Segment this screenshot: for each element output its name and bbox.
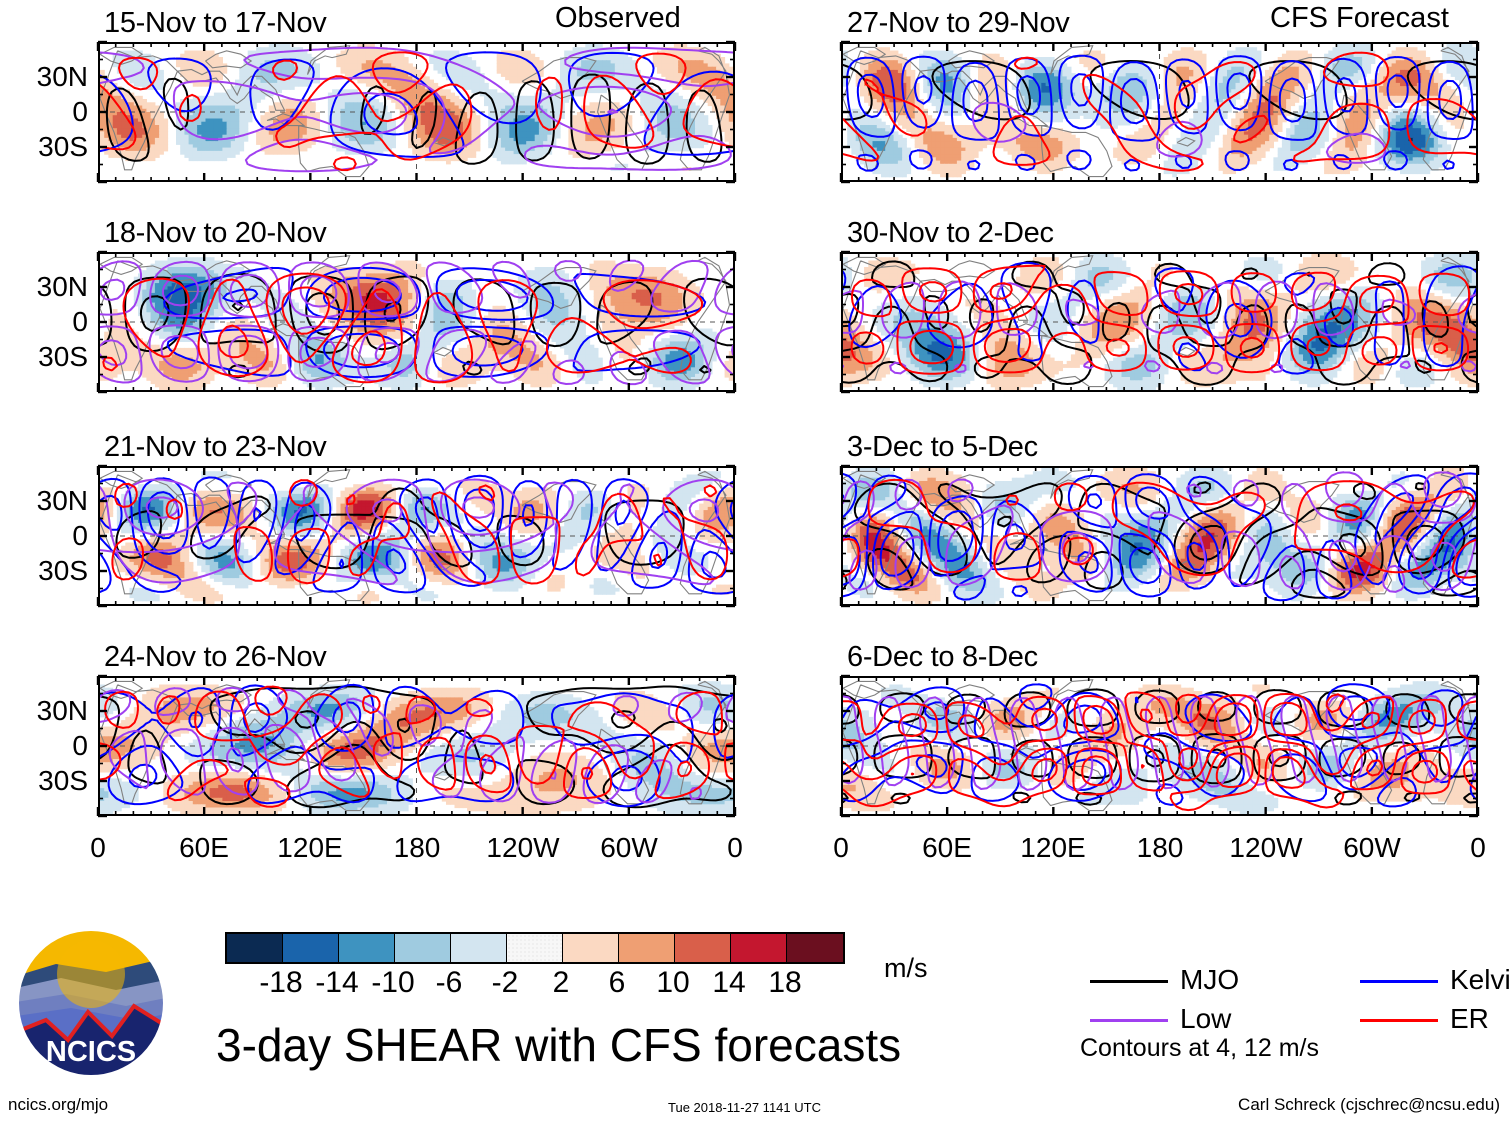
x-tick-label: 120E [1003,834,1103,862]
y-tick-label: 30S [0,767,88,795]
colorbar-units-label: m/s [884,955,928,982]
x-tick-label: 60W [579,834,679,862]
map-panel-obs-1[interactable] [98,42,735,182]
legend-swatch-kelvin-x2 [1360,980,1438,983]
colorbar-cell-9 [731,934,787,962]
y-tick-label: 0 [0,308,88,336]
x-tick-label: 0 [685,834,785,862]
panel-title-cfs-3: 3-Dec to 5-Dec [847,433,1038,462]
map-field-obs-4 [100,678,733,814]
y-tick-label: 0 [0,732,88,760]
x-tick-label: 120W [473,834,573,862]
y-tick-label: 0 [0,98,88,126]
figure-title: 3-day SHEAR with CFS forecasts [216,1022,901,1068]
ncics-logo-graphic: NCICS [16,928,166,1078]
map-panel-cfs-1[interactable] [841,42,1478,182]
colorbar-cell-7 [619,934,675,962]
panel-title-obs-1: 15-Nov to 17-Nov [104,9,326,38]
map-field-obs-3 [100,468,733,604]
panel-title-obs-3: 21-Nov to 23-Nov [104,433,326,462]
x-tick-label: 0 [48,834,148,862]
x-tick-label: 60E [897,834,997,862]
y-tick-label: 30N [0,697,88,725]
map-panel-cfs-2[interactable] [841,252,1478,392]
map-field-obs-1 [100,44,733,180]
x-tick-label: 0 [1428,834,1510,862]
y-tick-label: 30S [0,343,88,371]
x-tick-label: 60W [1322,834,1422,862]
y-tick-label: 30S [0,133,88,161]
map-panel-cfs-3[interactable] [841,466,1478,606]
panel-title-cfs-2: 30-Nov to 2-Dec [847,219,1054,248]
panel-title-cfs-1: 27-Nov to 29-Nov [847,9,1069,38]
footer-timestamp: Tue 2018-11-27 1141 UTC [668,1099,821,1116]
column-header-forecast: CFS Forecast [1270,4,1449,33]
legend-swatch-low [1090,1019,1168,1022]
map-field-cfs-1 [843,44,1476,180]
legend-label-mjo: MJO [1180,966,1239,994]
colorbar [225,932,845,964]
colorbar-cell-10 [787,934,843,962]
map-field-cfs-3 [843,468,1476,604]
colorbar-cell-6 [563,934,619,962]
map-field-cfs-2 [843,254,1476,390]
legend-label-low: Low [1180,1005,1231,1033]
colorbar-cell-8 [675,934,731,962]
colorbar-cell-5 [507,934,563,962]
legend-label-er: ER [1450,1005,1489,1033]
colorbar-tick-9: 18 [745,968,825,998]
x-tick-label: 180 [1110,834,1210,862]
y-tick-label: 30N [0,63,88,91]
x-tick-label: 0 [791,834,891,862]
x-tick-label: 180 [367,834,467,862]
y-tick-label: 30N [0,273,88,301]
ncics-logo: NCICS [16,928,166,1078]
colorbar-cell-1 [283,934,339,962]
logo-text: NCICS [46,1036,136,1068]
column-header-observed: Observed [555,4,681,33]
map-field-cfs-4 [843,678,1476,814]
y-tick-label: 30N [0,487,88,515]
map-panel-cfs-4[interactable] [841,676,1478,816]
contour-note: Contours at 4, 12 m/s [1080,1036,1319,1061]
x-tick-label: 120E [260,834,360,862]
footer-left[interactable]: ncics.org/mjo [8,1096,108,1113]
colorbar-cell-2 [339,934,395,962]
colorbar-cell-3 [395,934,451,962]
map-panel-obs-2[interactable] [98,252,735,392]
colorbar-cell-0 [227,934,283,962]
y-tick-label: 30S [0,557,88,585]
map-panel-obs-4[interactable] [98,676,735,816]
legend-swatch-mjo [1090,980,1168,983]
map-panel-obs-3[interactable] [98,466,735,606]
legend-swatch-er [1360,1019,1438,1022]
panel-title-obs-2: 18-Nov to 20-Nov [104,219,326,248]
map-field-obs-2 [100,254,733,390]
footer-author: Carl Schreck (cjschrec@ncsu.edu) [1238,1096,1500,1113]
x-tick-label: 60E [154,834,254,862]
panel-title-cfs-4: 6-Dec to 8-Dec [847,643,1038,672]
y-tick-label: 0 [0,522,88,550]
panel-title-obs-4: 24-Nov to 26-Nov [104,643,326,672]
x-tick-label: 120W [1216,834,1316,862]
colorbar-cell-4 [451,934,507,962]
legend-label-kelvin-x2: Kelvin x2 [1450,966,1510,994]
